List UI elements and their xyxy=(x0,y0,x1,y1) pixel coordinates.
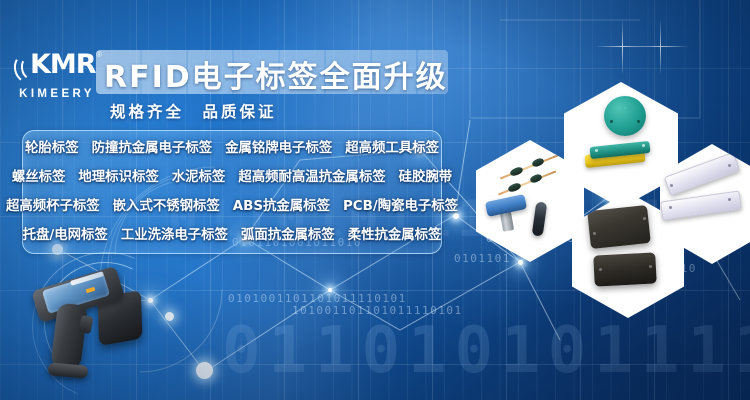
product-item[interactable]: 防撞抗金属电子标签 xyxy=(92,136,213,156)
glass-tube-wire xyxy=(500,154,558,179)
product-item[interactable]: 螺丝标签 xyxy=(12,165,66,185)
page-title: RFID电子标签全面升级 xyxy=(104,52,448,96)
product-item[interactable]: 托盘/电网标签 xyxy=(23,223,108,243)
product-item[interactable]: 水泥标签 xyxy=(172,165,226,185)
glass-tube-bead xyxy=(529,173,543,184)
product-item[interactable]: 超高频耐高温抗金属标签 xyxy=(238,165,385,185)
uhf-tag-hole xyxy=(669,206,672,209)
logo-mark: KMR ® xyxy=(14,52,100,84)
brand-logo[interactable]: KMR ® KIMEERY xyxy=(14,52,100,106)
rfid-handheld-reader xyxy=(24,272,156,390)
rfid-promo-banner: 0101101001011010 01011010010110100101 01… xyxy=(0,0,750,400)
product-item[interactable]: 硅胶腕带 xyxy=(399,165,453,185)
uhf-tag-hole xyxy=(670,184,673,187)
logo-wordmark: KIMEERY xyxy=(14,88,100,100)
anti-metal-tag-hole xyxy=(649,265,652,268)
anti-metal-tag-hole xyxy=(593,232,596,235)
product-item[interactable]: 轮胎标签 xyxy=(25,136,79,156)
product-item[interactable]: 金属铭牌电子标签 xyxy=(225,136,332,156)
anti-metal-tag-black xyxy=(593,252,657,286)
bar-tag-hole xyxy=(642,144,645,147)
logo-mark-text: KMR xyxy=(30,49,96,80)
disc-tag-hole xyxy=(610,120,613,123)
product-item[interactable]: 嵌入式不锈钢标签 xyxy=(113,194,220,214)
disc-tag xyxy=(604,96,646,136)
reader-pistol-grip xyxy=(50,302,88,371)
product-item[interactable]: 超高频杯子标签 xyxy=(6,194,100,214)
glass-tube-bead xyxy=(531,157,545,168)
product-item[interactable]: 工业洗涤电子标签 xyxy=(121,223,228,243)
glass-tube-bead xyxy=(509,166,524,177)
disc-tag-notch xyxy=(611,107,638,123)
product-item[interactable]: ABS抗金属标签 xyxy=(233,194,330,214)
disc-tag-hole xyxy=(637,120,640,123)
anti-metal-tag-hole xyxy=(643,217,646,220)
product-item[interactable]: 柔性抗金属标签 xyxy=(348,223,442,243)
page-subtitle: 规格齐全 品质保证 xyxy=(110,100,277,122)
product-item[interactable]: 弧面抗金属标签 xyxy=(241,223,335,243)
product-item[interactable]: PCB/陶瓷电子标签 xyxy=(343,194,458,214)
product-row: 轮胎标签 防撞抗金属电子标签 金属铭牌电子标签 超高频工具标签 xyxy=(23,131,441,160)
uhf-tag-hole xyxy=(728,164,731,167)
glass-tube-bead xyxy=(507,182,522,193)
product-item[interactable]: 地理标识标签 xyxy=(78,165,158,185)
bar-tag-hole xyxy=(595,149,598,152)
anti-metal-tag-hole xyxy=(599,268,602,271)
product-row: 托盘/电网标签 工业洗涤电子标签 弧面抗金属标签 柔性抗金属标签 xyxy=(23,218,441,247)
anti-metal-tag-black xyxy=(587,205,651,249)
product-row: 螺丝标签 地理标识标签 水泥标签 超高频耐高温抗金属标签 硅胶腕带 xyxy=(23,160,441,189)
product-row: 超高频杯子标签 嵌入式不锈钢标签 ABS抗金属标签 PCB/陶瓷电子标签 xyxy=(23,189,441,218)
reader-trigger xyxy=(78,315,93,334)
glass-tube-tag xyxy=(532,201,548,236)
product-item[interactable]: 超高频工具标签 xyxy=(345,136,439,156)
uhf-tag-hole xyxy=(728,198,731,201)
product-category-panel: 轮胎标签 防撞抗金属电子标签 金属铭牌电子标签 超高频工具标签 螺丝标签 地理标… xyxy=(22,130,442,254)
reader-grip-base xyxy=(48,362,89,378)
